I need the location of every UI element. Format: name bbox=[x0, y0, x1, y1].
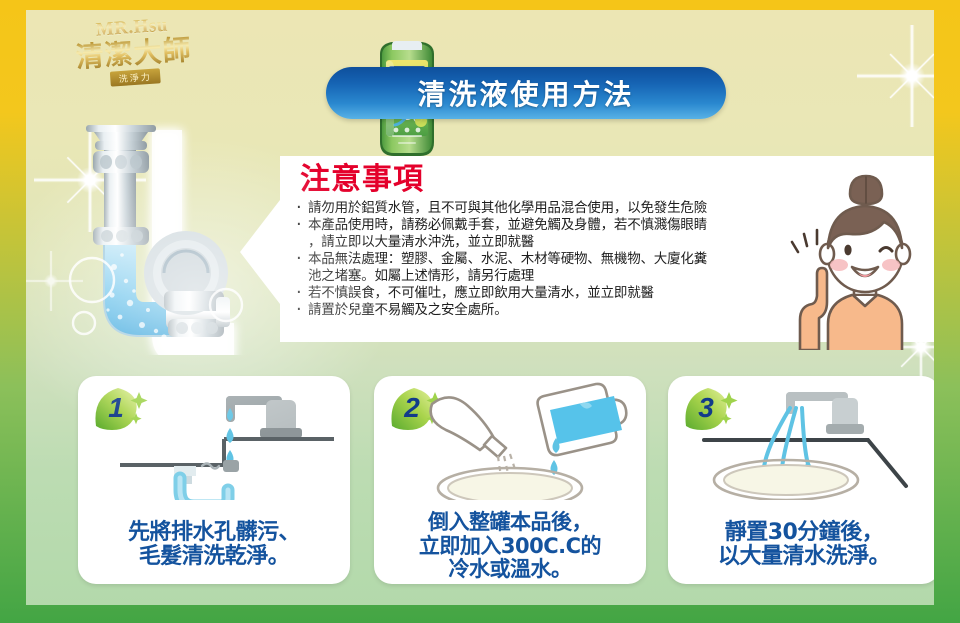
title-banner: 清洗液使用方法 bbox=[326, 67, 726, 119]
step-caption-1: 先將排水孔髒污、 毛髮清洗乾淨。 bbox=[78, 521, 350, 570]
brand-badge: 洗淨力 bbox=[110, 69, 160, 87]
sparkle-icon bbox=[852, 16, 934, 136]
woman-pointing-up-illustration bbox=[784, 172, 934, 350]
drain-pipe-faucet-icon bbox=[78, 382, 350, 500]
title-banner-text: 清洗液使用方法 bbox=[417, 73, 634, 113]
step-caption-3: 靜置30分鐘後， 以大量清水洗淨。 bbox=[668, 521, 934, 570]
poster-canvas: MR.Hsu 清潔大師 洗淨力 bbox=[26, 10, 934, 605]
poster-root: MR.Hsu 清潔大師 洗淨力 bbox=[0, 0, 960, 623]
step-caption-2: 倒入整罐本品後， 立即加入300C.C的 冷水或溫水。 bbox=[374, 511, 646, 582]
faucet-rinsing-drain-icon bbox=[668, 382, 934, 500]
bottle-pouring-into-drain-icon bbox=[374, 382, 646, 500]
step-card-1: 1 bbox=[78, 376, 350, 584]
brand-logo: MR.Hsu 清潔大師 洗淨力 bbox=[63, 13, 204, 104]
step-card-2: 2 bbox=[374, 376, 646, 584]
step-card-3: 3 bbox=[668, 376, 934, 584]
brand-chinese-name: 清潔大師 bbox=[65, 34, 203, 73]
